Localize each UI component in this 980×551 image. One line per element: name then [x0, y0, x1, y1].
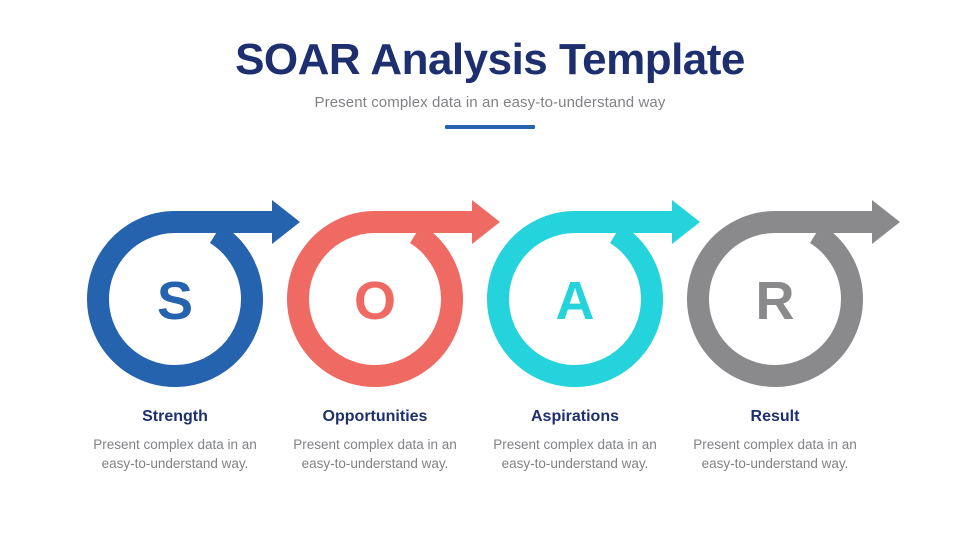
arrow-head — [672, 200, 700, 244]
caption-body: Present complex data in an easy-to-under… — [75, 435, 275, 474]
caption-body: Present complex data in an easy-to-under… — [675, 435, 875, 474]
caption-item: Aspirations Present complex data in an e… — [475, 408, 675, 474]
page-subtitle: Present complex data in an easy-to-under… — [0, 94, 980, 111]
page-title: SOAR Analysis Template — [0, 36, 980, 84]
slide-header: SOAR Analysis Template Present complex d… — [0, 36, 980, 129]
arrow-head — [472, 200, 500, 244]
ring-letter-a: A — [556, 271, 595, 331]
caption-item: Result Present complex data in an easy-t… — [675, 408, 875, 474]
soar-step-o[interactable]: O — [298, 200, 500, 376]
caption-body: Present complex data in an easy-to-under… — [275, 435, 475, 474]
ring-letter-s: S — [157, 271, 193, 331]
caption-title: Result — [675, 408, 875, 426]
caption-row: Strength Present complex data in an easy… — [0, 408, 980, 474]
soar-diagram-svg: SOAR — [0, 196, 980, 406]
caption-title: Strength — [75, 408, 275, 426]
caption-body: Present complex data in an easy-to-under… — [475, 435, 675, 474]
ring-letter-o: O — [354, 271, 396, 331]
arrow-head — [272, 200, 300, 244]
caption-item: Strength Present complex data in an easy… — [75, 408, 275, 474]
soar-step-a[interactable]: A — [498, 200, 700, 376]
diagram-steps: SOAR — [98, 200, 900, 376]
soar-circular-arrow-diagram: SOAR — [0, 196, 980, 406]
ring-letter-r: R — [756, 271, 795, 331]
soar-step-r[interactable]: R — [698, 200, 900, 376]
soar-step-s[interactable]: S — [98, 200, 300, 376]
caption-title: Opportunities — [275, 408, 475, 426]
arrow-head — [872, 200, 900, 244]
caption-item: Opportunities Present complex data in an… — [275, 408, 475, 474]
slide-canvas: SOAR Analysis Template Present complex d… — [0, 0, 980, 551]
title-accent-bar — [445, 125, 535, 129]
caption-title: Aspirations — [475, 408, 675, 426]
